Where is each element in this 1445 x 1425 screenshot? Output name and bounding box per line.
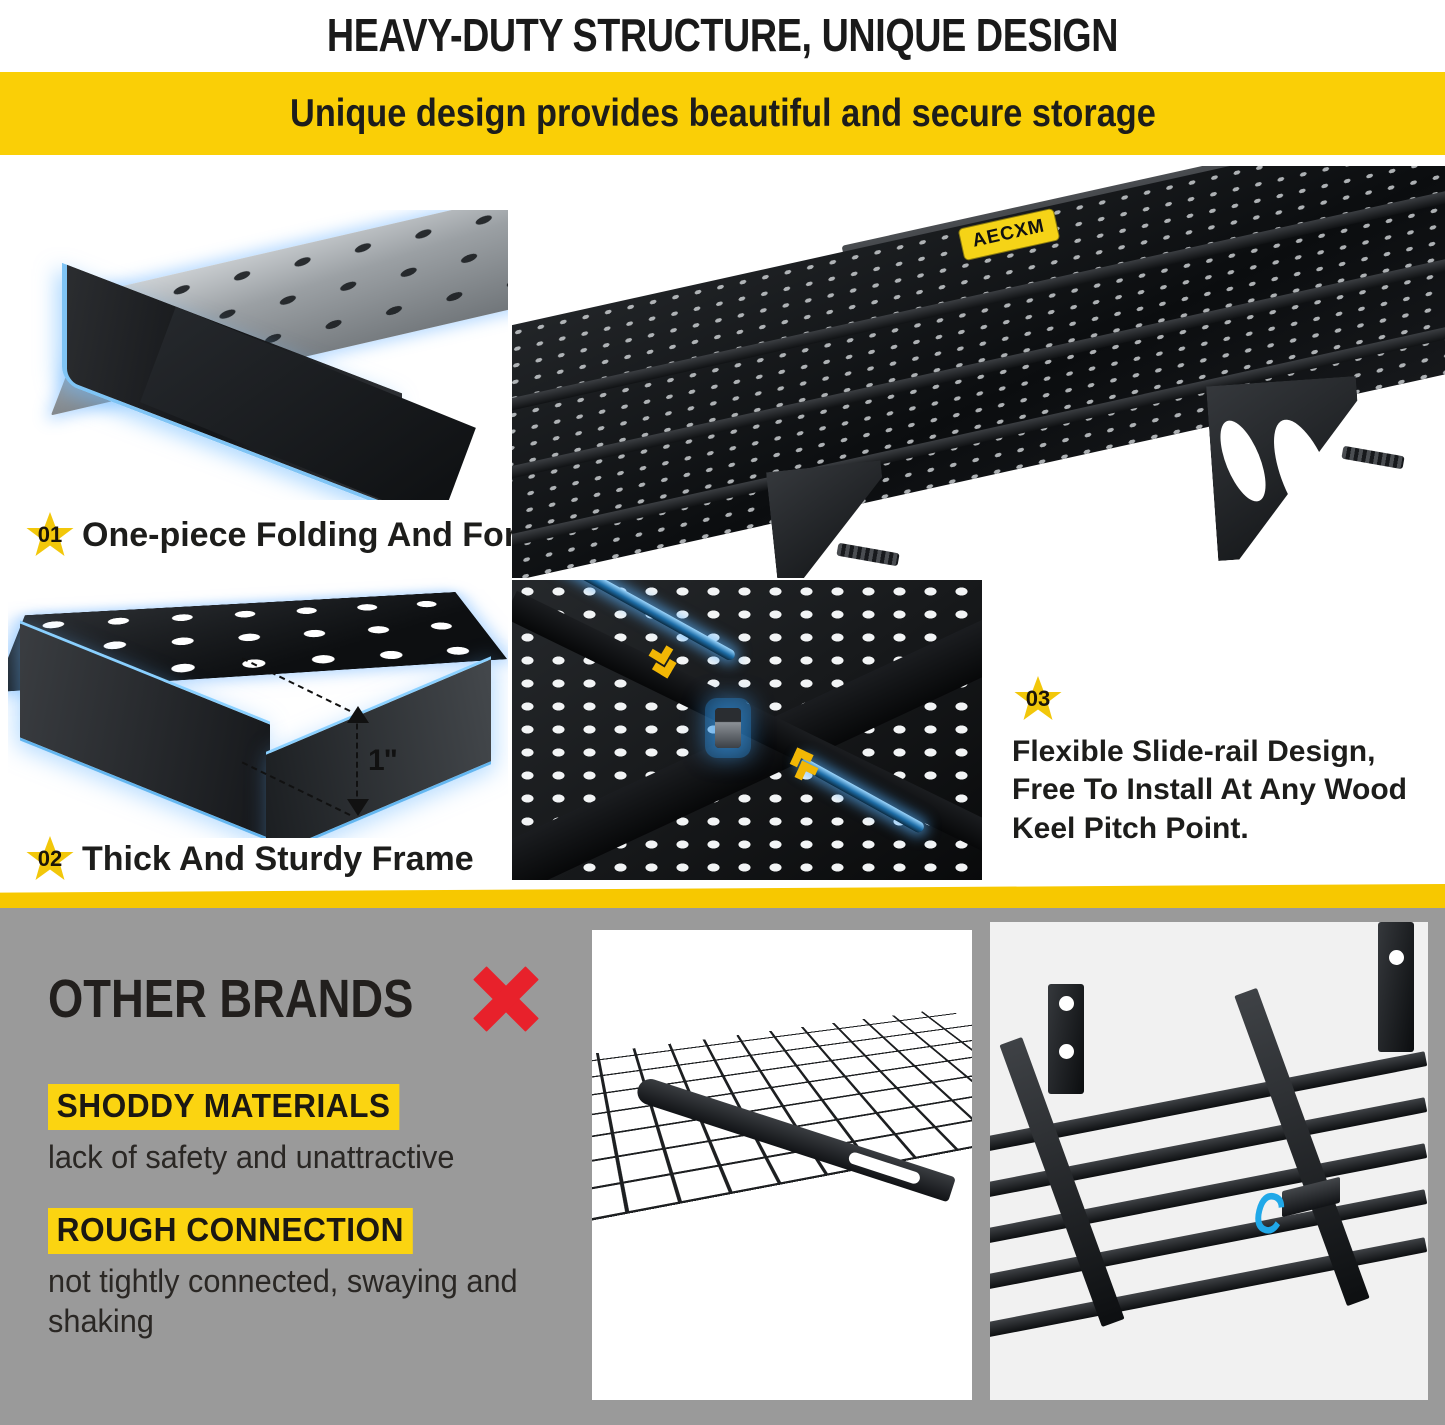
dimension-annotation: 1" <box>338 704 408 816</box>
star-icon: 02 <box>24 834 76 884</box>
mounting-screw <box>715 708 741 748</box>
arrow-up-icon <box>347 706 369 723</box>
photo-competitor-slat-rack: C <box>990 922 1428 1400</box>
other-brands-heading: OTHER BRANDS <box>48 968 537 1030</box>
feature-number: 03 <box>1026 688 1050 710</box>
photo-one-piece-folding <box>8 210 508 500</box>
feature-text: Flexible Slide-rail Design, Free To Inst… <box>1012 733 1432 848</box>
wall-bracket-left <box>1048 984 1084 1094</box>
slat-rack-frame: C <box>990 922 1428 1400</box>
infographic-page: HEAVY-DUTY STRUCTURE, UNIQUE DESIGN Uniq… <box>0 0 1445 1425</box>
comparison-point-detail: not tightly connected, swaying and shaki… <box>48 1262 566 1341</box>
feature-label-02: 02 Thick And Sturdy Frame <box>24 834 474 884</box>
comparison-point-title: ROUGH CONNECTION <box>48 1208 413 1254</box>
comparison-point-detail: lack of safety and unattractive <box>48 1138 547 1178</box>
feature-text: Thick And Sturdy Frame <box>82 840 474 879</box>
feature-number: 02 <box>38 848 62 870</box>
page-title: HEAVY-DUTY STRUCTURE, UNIQUE DESIGN <box>130 2 1315 68</box>
accessory-hook-1 <box>1341 446 1404 470</box>
comparison-point-title: SHODDY MATERIALS <box>48 1084 399 1130</box>
photo-thick-sturdy-frame: 1" <box>8 576 508 838</box>
header-subtitle: Unique design provides beautiful and sec… <box>290 92 1156 136</box>
dimension-value: 1" <box>368 744 397 778</box>
comparison-point-2: ROUGH CONNECTION not tightly connected, … <box>48 1208 588 1341</box>
star-icon: 03 <box>1012 674 1064 724</box>
rack-cross-rail-right <box>1234 988 1369 1306</box>
comparison-point-1: SHODDY MATERIALS lack of safety and unat… <box>48 1084 568 1178</box>
accessory-hook-2 <box>836 543 899 567</box>
header-subtitle-band: Unique design provides beautiful and sec… <box>0 72 1445 155</box>
arrow-down-icon <box>347 799 369 816</box>
other-brands-text: OTHER BRANDS <box>48 968 413 1030</box>
red-x-icon <box>475 968 537 1030</box>
rack-bar-4 <box>990 1189 1427 1290</box>
wall-bracket-right <box>1378 922 1414 1052</box>
photo-competitor-wire-mesh <box>592 930 972 1400</box>
star-icon: 01 <box>24 510 76 560</box>
photo-slide-rail-detail <box>512 580 982 880</box>
photo-main-product: AECXM <box>512 166 1445 578</box>
dimension-line <box>356 714 358 806</box>
feature-number: 01 <box>38 524 62 546</box>
feature-label-03: 03 Flexible Slide-rail Design, Free To I… <box>1012 674 1432 848</box>
features-region: 01 One-piece Folding And Forming 1" <box>0 158 1445 888</box>
comparison-region: OTHER BRANDS SHODDY MATERIALS lack of sa… <box>0 908 1445 1425</box>
